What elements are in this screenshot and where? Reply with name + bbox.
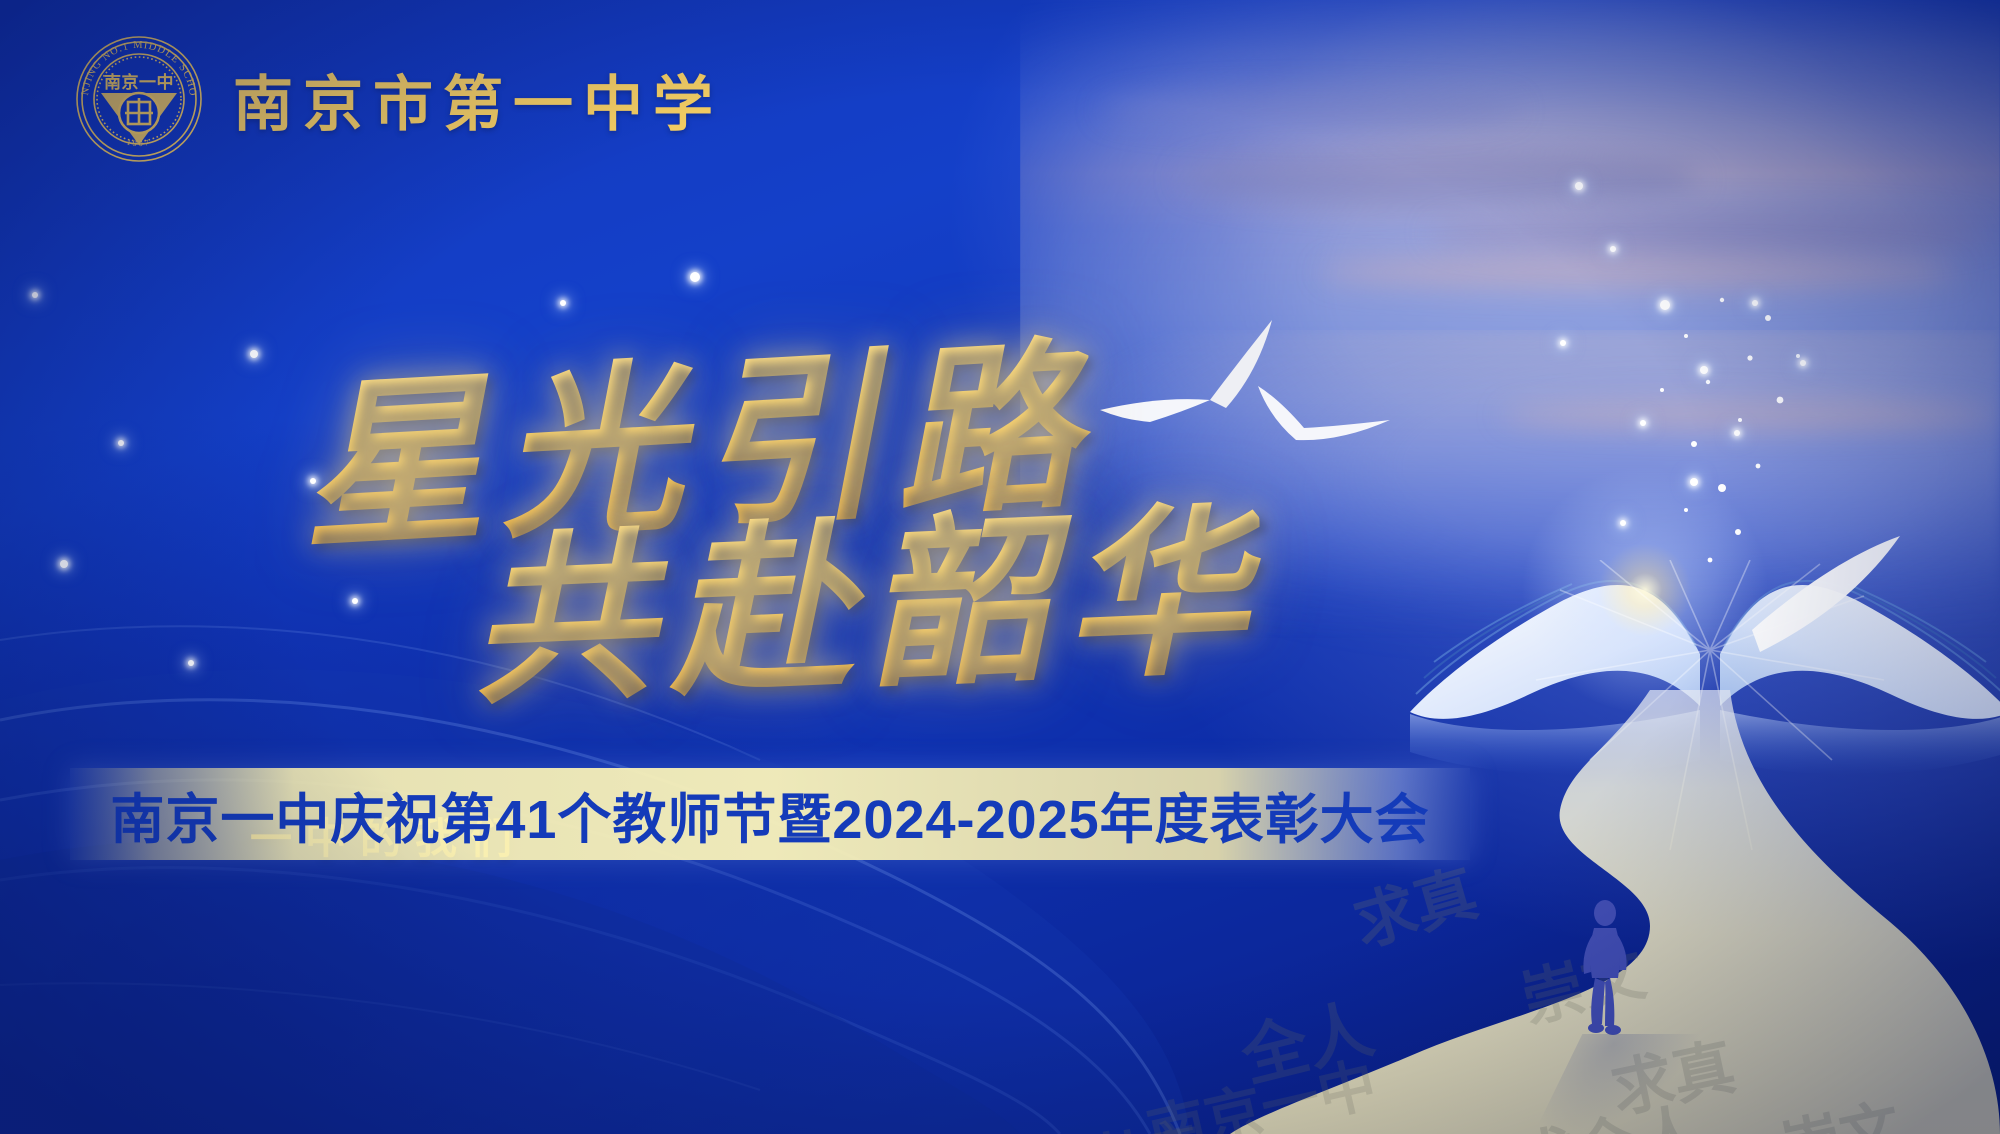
poster-canvas: 求真崇文全人南京一中求真崇文成全人崇文 NANJING NO.1 MIDD (0, 0, 2000, 1134)
sparkle-dot (188, 660, 194, 666)
sparkle-dot (1734, 430, 1740, 436)
sparkle-dot (250, 350, 258, 358)
sparkle-dot (1752, 300, 1758, 306)
sparkle-dot (560, 300, 566, 306)
sparkle-dot (1800, 360, 1806, 366)
sparkle-dot (60, 560, 68, 568)
sparkle-dot (1560, 340, 1566, 346)
sparkle-dot (1620, 520, 1626, 526)
sparkle-dot (1700, 366, 1708, 374)
sparkle-dot (1660, 300, 1670, 310)
sparkle-dot (1575, 182, 1583, 190)
sparkle-dot (1690, 478, 1698, 486)
sparkle-layer (0, 0, 2000, 1134)
sparkle-dot (1640, 420, 1646, 426)
sparkle-dot (352, 598, 358, 604)
sparkle-dot (1610, 246, 1616, 252)
sparkle-dot (310, 478, 316, 484)
sparkle-dot (118, 440, 124, 446)
sparkle-dot (690, 272, 700, 282)
sparkle-dot (32, 292, 38, 298)
